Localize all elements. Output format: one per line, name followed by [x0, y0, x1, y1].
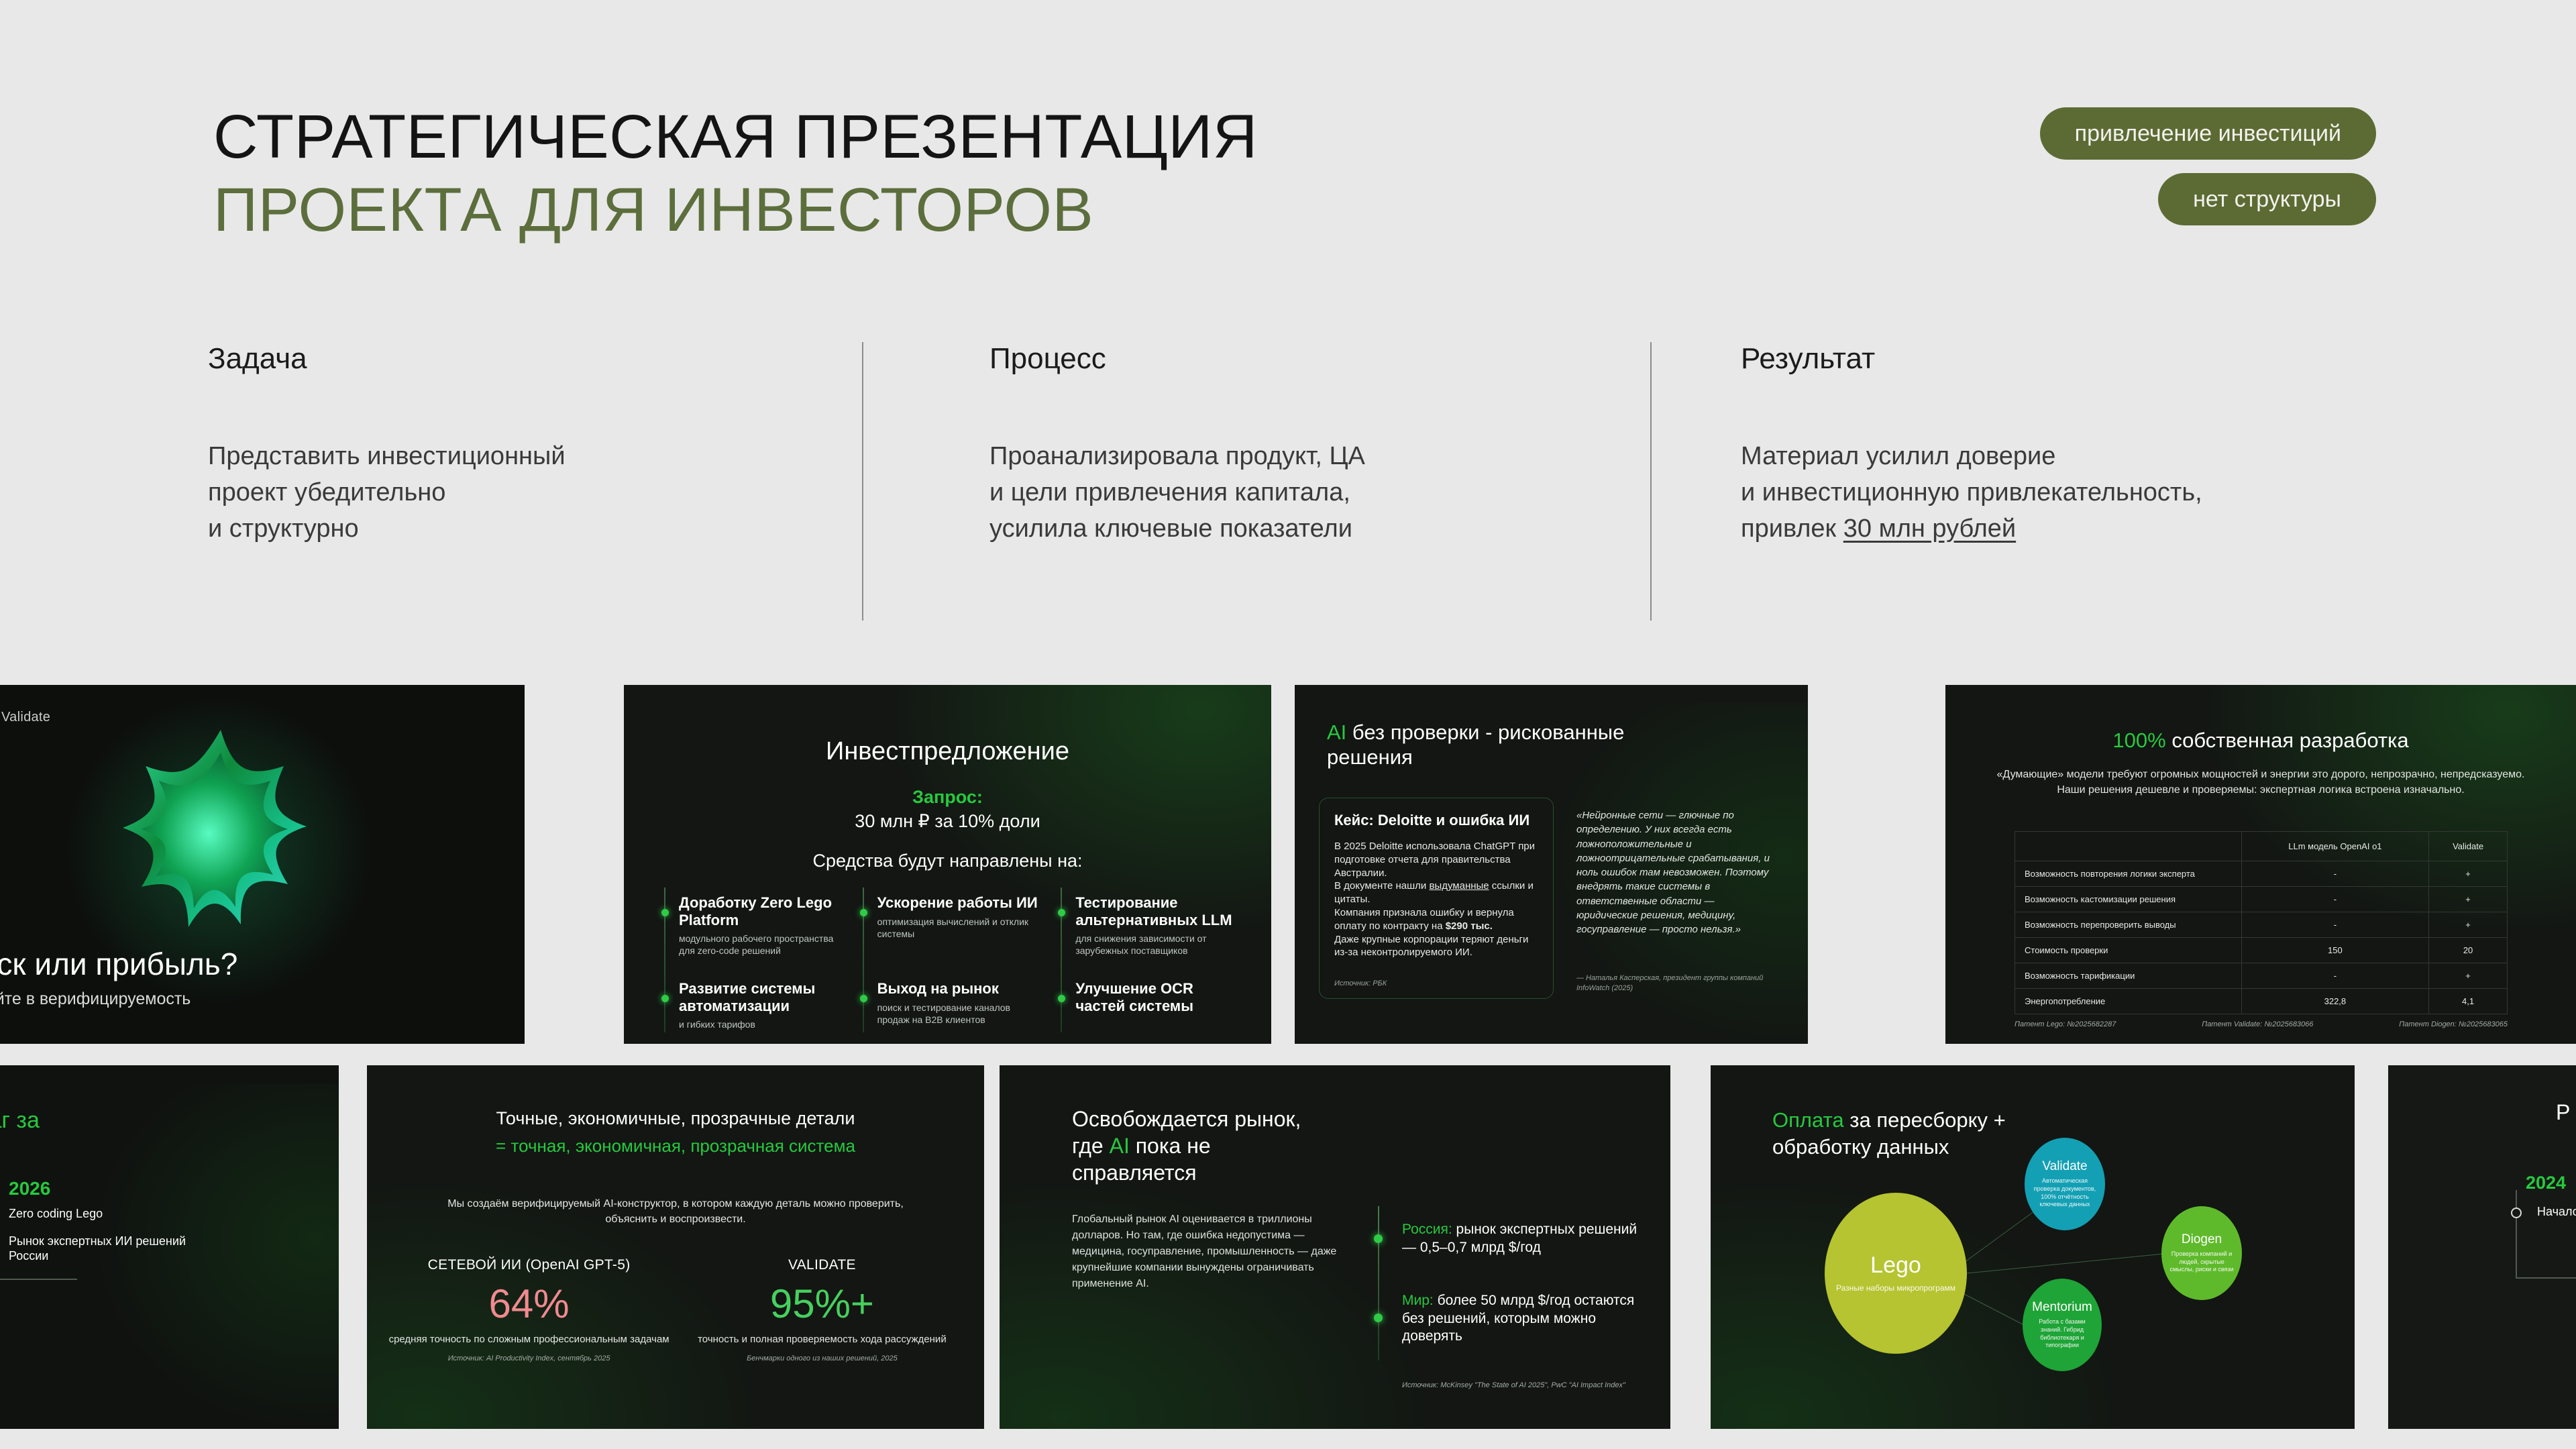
roadmap-item-2026-1: Zero coding Lego — [9, 1207, 103, 1222]
market-point-russia: Россия: рынок экспертных решений — 0,5–0… — [1402, 1221, 1644, 1256]
cell-validate: + — [2429, 912, 2508, 938]
cell-llm: - — [2241, 861, 2429, 887]
roadmap-right-item: Начало — [2537, 1205, 2576, 1219]
risk-card-title: Кейс: Deloitte и ошибка ИИ — [1334, 812, 1538, 829]
node-desc: Работа с базами знаний. Гибрид библиотек… — [2029, 1318, 2095, 1350]
node-diogen[interactable]: Diogen Проверка компаний и людей, скрыты… — [2161, 1206, 2242, 1300]
cell-llm: - — [2241, 912, 2429, 938]
column-title-process: Процесс — [989, 342, 1660, 376]
th-validate: Validate — [2429, 832, 2508, 861]
slide-strip-bottom: истемы шаг за агом 2026 Zero coding Lego… — [0, 1065, 2576, 1429]
patent-lego: Патент Lego: №2025682287 — [2015, 1020, 2116, 1028]
slide-strip-top: Validate — [0, 685, 2576, 1044]
node-mentorium[interactable]: Mentorium Работа с базами знаний. Гибрид… — [2023, 1279, 2102, 1371]
slide-market-opportunity[interactable]: Освобождается рынок, где AI пока не спра… — [1000, 1065, 1670, 1429]
result-line-3: привлек 30 млн рублей — [1741, 511, 2479, 547]
slide-own-development[interactable]: 100% собственная разработка «Думающие» м… — [1945, 685, 2576, 1044]
kpi-source: Бенчмарки одного из наших решений, 2025 — [680, 1354, 964, 1362]
owndev-title: 100% собственная разработка — [1945, 729, 2576, 753]
invest-item: Тестирование альтернативных LLM для сниж… — [1058, 894, 1239, 960]
kpi-source: Источник: AI Productivity Index, сентябр… — [387, 1354, 671, 1362]
cell-label: Возможность кастомизации решения — [2015, 887, 2242, 912]
th-blank — [2015, 832, 2242, 861]
tag-no-structure[interactable]: нет структуры — [2158, 173, 2376, 225]
invest-item-sub: для снижения зависимости от зарубежных п… — [1075, 932, 1239, 957]
risk-title: AI без проверки - рискованные решения — [1327, 720, 1707, 769]
mk-title-a: Освобождается рынок, — [1072, 1107, 1301, 1131]
column-process: Процесс Проанализировала продукт, ЦА и ц… — [989, 342, 1660, 547]
task-line-1: Представить инвестиционный — [208, 439, 879, 475]
owndev-title-accent: 100% — [2112, 729, 2165, 752]
cell-validate: + — [2429, 861, 2508, 887]
node-connectors — [1711, 1065, 2355, 1429]
comparison-table: LLm модель OpenAI o1 Validate Возможност… — [2015, 831, 2508, 1014]
roadmap-year-2026: 2026 — [9, 1178, 50, 1199]
cell-validate: 20 — [2429, 938, 2508, 963]
slide-hero-title: AI: Риск или прибыль? — [0, 946, 237, 982]
star-blob-graphic — [108, 726, 329, 974]
owndev-title-rest: собственная разработка — [2166, 729, 2409, 752]
roadmap-left-title: истемы шаг за агом — [0, 1107, 319, 1162]
slide-hero[interactable]: Validate — [0, 685, 525, 1044]
kpi-value: 64% — [387, 1283, 671, 1326]
risk-card-p2: В документе нашли выдуманные ссылки и ци… — [1334, 879, 1538, 906]
risk-card-p4: Даже крупные корпорации теряют деньги из… — [1334, 933, 1538, 960]
slide-hero-subtitle: Инвестируйте в верифицируемость — [0, 989, 191, 1009]
slide-roadmap-right[interactable]: Р 2024 Начало — [2388, 1065, 2576, 1429]
invest-item: Доработку Zero Lego Platform модульного … — [661, 894, 843, 960]
mk-title-b1: где — [1072, 1134, 1110, 1158]
invest-item: Ускорение работы ИИ оптимизация вычислен… — [860, 894, 1041, 960]
node-name: Validate — [2042, 1159, 2087, 1174]
table-row: Возможность кастомизации решения - + — [2015, 887, 2508, 912]
mk-title-accent: AI — [1110, 1134, 1130, 1158]
patent-diogen: Патент Diogen: №2025683065 — [2399, 1020, 2508, 1028]
risk-card-p3: Компания признала ошибку и вернула оплат… — [1334, 906, 1538, 933]
task-line-3: и структурно — [208, 511, 879, 547]
column-title-result: Результат — [1741, 342, 2479, 376]
page-header: СТРАТЕГИЧЕСКАЯ ПРЕЗЕНТАЦИЯ ПРОЕКТА ДЛЯ И… — [0, 0, 2576, 335]
invest-item-sub: оптимизация вычислений и отклик системы — [877, 916, 1041, 940]
p2-underlined: выдуманные — [1429, 880, 1489, 892]
invest-title: Инвестпредложение — [624, 737, 1271, 766]
invest-item-head: Улучшение OCR частей системы — [1075, 980, 1239, 1014]
risk-title-accent: AI — [1327, 720, 1346, 744]
mk-title-b2: пока не — [1130, 1134, 1211, 1158]
invest-item-head: Выход на рынок — [877, 980, 1041, 998]
cell-label: Стоимость проверки — [2015, 938, 2242, 963]
cell-llm: 150 — [2241, 938, 2429, 963]
result-amount-link[interactable]: 30 млн рублей — [1843, 515, 2016, 543]
cell-label: Возможность тарификации — [2015, 963, 2242, 989]
timeline-node-icon — [2511, 1207, 2522, 1218]
table-header-row: LLm модель OpenAI o1 Validate — [2015, 832, 2508, 861]
slide-hero-brand: Validate — [1, 710, 50, 725]
kpi-label: VALIDATE — [680, 1257, 964, 1273]
invest-request-label: Запрос: — [624, 787, 1271, 808]
title-line-2: ПРОЕКТА ДЛЯ ИНВЕСТОРОВ — [213, 174, 1258, 247]
invest-items-grid: Доработку Zero Lego Platform модульного … — [661, 894, 1239, 1044]
bullet-dot-icon — [1374, 1234, 1383, 1243]
risk-card-source: Источник: РБК — [1334, 979, 1387, 987]
result-line-2: и инвестиционную привлекательность, — [1741, 475, 2479, 511]
column-body-task: Представить инвестиционный проект убедит… — [208, 439, 879, 547]
kpi-validate: VALIDATE 95%+ точность и полная проверяе… — [680, 1257, 964, 1362]
node-lego[interactable]: Lego Разные наборы микропрограмм — [1825, 1193, 1967, 1354]
cell-llm: 322,8 — [2241, 989, 2429, 1014]
roadmap-right-title: Р — [2556, 1100, 2570, 1125]
risk-title-rest: без проверки - рискованные решения — [1327, 720, 1624, 769]
roadmap-item-2026-2: Рынок экспертных ИИ решений России — [9, 1234, 190, 1264]
roadmap-right-baseline — [2516, 1277, 2576, 1279]
point-accent: Россия: — [1402, 1222, 1452, 1237]
kpi-network-ai: СЕТЕВОЙ ИИ (OpenAI GPT-5) 64% средняя то… — [387, 1257, 671, 1362]
invest-item-head: Ускорение работы ИИ — [877, 894, 1041, 912]
bullet-dot-icon — [1058, 995, 1065, 1002]
invest-item-head: Доработку Zero Lego Platform — [679, 894, 843, 928]
kpi-desc: средняя точность по сложным профессионал… — [387, 1333, 671, 1346]
risk-card-p1: В 2025 Deloitte использовала ChatGPT при… — [1334, 840, 1538, 879]
roadmap-baseline — [0, 1279, 77, 1280]
slide-precise-economical[interactable]: Точные, экономичные, прозрачные детали =… — [367, 1065, 984, 1429]
invest-item-head: Тестирование альтернативных LLM — [1075, 894, 1239, 928]
invest-item-sub: и гибких тарифов — [679, 1018, 843, 1030]
cell-validate: + — [2429, 887, 2508, 912]
cell-llm: - — [2241, 963, 2429, 989]
owndev-paragraph: «Думающие» модели требуют огромных мощно… — [1986, 767, 2536, 798]
risk-case-card: Кейс: Deloitte и ошибка ИИ В 2025 Deloit… — [1319, 798, 1554, 999]
risk-quote: «Нейронные сети — глючные по определению… — [1576, 808, 1778, 937]
invest-item-sub: поиск и тестирование каналов продаж на B… — [877, 1002, 1041, 1026]
slide-roadmap-left[interactable]: истемы шаг за агом 2026 Zero coding Lego… — [0, 1065, 339, 1429]
cell-label: Возможность повторения логики эксперта — [2015, 861, 2242, 887]
p3-amount: $290 тыс. — [1446, 920, 1493, 932]
cell-llm: - — [2241, 887, 2429, 912]
market-rail — [1378, 1206, 1379, 1360]
tag-investment[interactable]: привлечение инвестиций — [2040, 107, 2376, 160]
task-line-2: проект убедительно — [208, 475, 879, 511]
result-prefix: привлек — [1741, 515, 1843, 543]
cell-validate: + — [2429, 963, 2508, 989]
market-paragraph: Глобальный рынок AI оценивается в трилли… — [1072, 1212, 1340, 1292]
node-desc: Автоматическая проверка документов, 100%… — [2031, 1177, 2098, 1209]
roadmap-right-year: 2024 — [2526, 1173, 2566, 1193]
risk-quote-attribution: — Наталья Касперская, президент группы к… — [1576, 973, 1778, 994]
title-line-1: СТРАТЕГИЧЕСКАЯ ПРЕЗЕНТАЦИЯ — [213, 101, 1258, 174]
column-body-process: Проанализировала продукт, ЦА и цели прив… — [989, 439, 1660, 547]
process-line-3: усилила ключевые показатели — [989, 511, 1660, 547]
hero-title-rest: Риск или прибыль? — [0, 947, 237, 981]
invest-item: Улучшение OCR частей системы — [1058, 980, 1239, 1044]
invest-item: Развитие системы автоматизации и гибких … — [661, 980, 843, 1044]
precise-paragraph: Мы создаём верифицируемый AI-конструктор… — [446, 1197, 905, 1227]
presentation-case-page: СТРАТЕГИЧЕСКАЯ ПРЕЗЕНТАЦИЯ ПРОЕКТА ДЛЯ И… — [0, 0, 2576, 1449]
market-source: Источник: McKinsey "The State of AI 2025… — [1402, 1381, 1637, 1391]
kpi-desc: точность и полная проверяемость хода рас… — [680, 1333, 964, 1346]
page-title: СТРАТЕГИЧЕСКАЯ ПРЕЗЕНТАЦИЯ ПРОЕКТА ДЛЯ И… — [213, 101, 1258, 246]
case-columns: Задача Представить инвестиционный проект… — [0, 342, 2576, 624]
point-text: более 50 млрд $/год остаются без решений… — [1402, 1293, 1634, 1344]
invest-item: Выход на рынок поиск и тестирование кана… — [860, 980, 1041, 1044]
invest-directions-label: Средства будут направлены на: — [624, 851, 1271, 871]
tag-list: привлечение инвестиций нет структуры — [2040, 107, 2376, 225]
market-point-world: Мир: более 50 млрд $/год остаются без ре… — [1402, 1292, 1644, 1346]
cell-label: Энергопотребление — [2015, 989, 2242, 1014]
th-llm: LLm модель OpenAI o1 — [2241, 832, 2429, 861]
mk-title-c: справляется — [1072, 1161, 1197, 1185]
table-row: Стоимость проверки 150 20 — [2015, 938, 2508, 963]
process-line-2: и цели привлечения капитала, — [989, 475, 1660, 511]
invest-request-value: 30 млн ₽ за 10% доли — [624, 811, 1271, 832]
patent-validate: Патент Validate: №2025683066 — [2202, 1020, 2313, 1028]
p2-a: В документе нашли — [1334, 880, 1429, 892]
kpi-value: 95%+ — [680, 1283, 964, 1326]
rl-title-accent: шаг за — [0, 1108, 40, 1133]
node-name: Lego — [1870, 1252, 1921, 1279]
precise-title-white: Точные, экономичные, прозрачные детали — [394, 1108, 957, 1129]
patent-list: Патент Lego: №2025682287 Патент Validate… — [2015, 1020, 2508, 1028]
point-accent: Мир: — [1402, 1293, 1434, 1308]
slide-payment-model[interactable]: Оплата за пересборку + обработку данных … — [1711, 1065, 2355, 1429]
cell-label: Возможность перепроверить выводы — [2015, 912, 2242, 938]
table-row: Возможность повторения логики эксперта -… — [2015, 861, 2508, 887]
cell-validate: 4,1 — [2429, 989, 2508, 1014]
kpi-label: СЕТЕВОЙ ИИ (OpenAI GPT-5) — [387, 1257, 671, 1273]
result-line-1: Материал усилил доверие — [1741, 439, 2479, 475]
node-name: Diogen — [2182, 1232, 2222, 1247]
bullet-dot-icon — [1374, 1313, 1383, 1322]
table-row: Энергопотребление 322,8 4,1 — [2015, 989, 2508, 1014]
node-validate[interactable]: Validate Автоматическая проверка докумен… — [2025, 1138, 2105, 1230]
column-result: Результат Материал усилил доверие и инве… — [1741, 342, 2479, 547]
column-task: Задача Представить инвестиционный проект… — [208, 342, 879, 547]
node-desc: Разные наборы микропрограмм — [1836, 1283, 1955, 1294]
slide-ai-risk[interactable]: AI без проверки - рискованные решения Ке… — [1295, 685, 1808, 1044]
table-row: Возможность тарификации - + — [2015, 963, 2508, 989]
slide-invest-offer[interactable]: Инвестпредложение Запрос: 30 млн ₽ за 10… — [624, 685, 1271, 1044]
invest-item-sub: модульного рабочего пространства для zer… — [679, 932, 843, 957]
bullet-dot-icon — [860, 995, 867, 1002]
bullet-dot-icon — [661, 995, 669, 1002]
node-desc: Проверка компаний и людей, скрытые смысл… — [2168, 1250, 2235, 1274]
process-line-1: Проанализировала продукт, ЦА — [989, 439, 1660, 475]
invest-item-head: Развитие системы автоматизации — [679, 980, 843, 1014]
table-row: Возможность перепроверить выводы - + — [2015, 912, 2508, 938]
bullet-dot-icon — [1058, 909, 1065, 916]
bullet-dot-icon — [661, 909, 669, 916]
roadmap-right-rail — [2516, 1190, 2517, 1277]
column-title-task: Задача — [208, 342, 879, 376]
precise-title-green: = точная, экономичная, прозрачная систем… — [427, 1135, 924, 1157]
node-name: Mentorium — [2032, 1300, 2092, 1315]
bullet-dot-icon — [860, 909, 867, 916]
market-title: Освобождается рынок, где AI пока не спра… — [1072, 1106, 1301, 1186]
column-body-result: Материал усилил доверие и инвестиционную… — [1741, 439, 2479, 547]
